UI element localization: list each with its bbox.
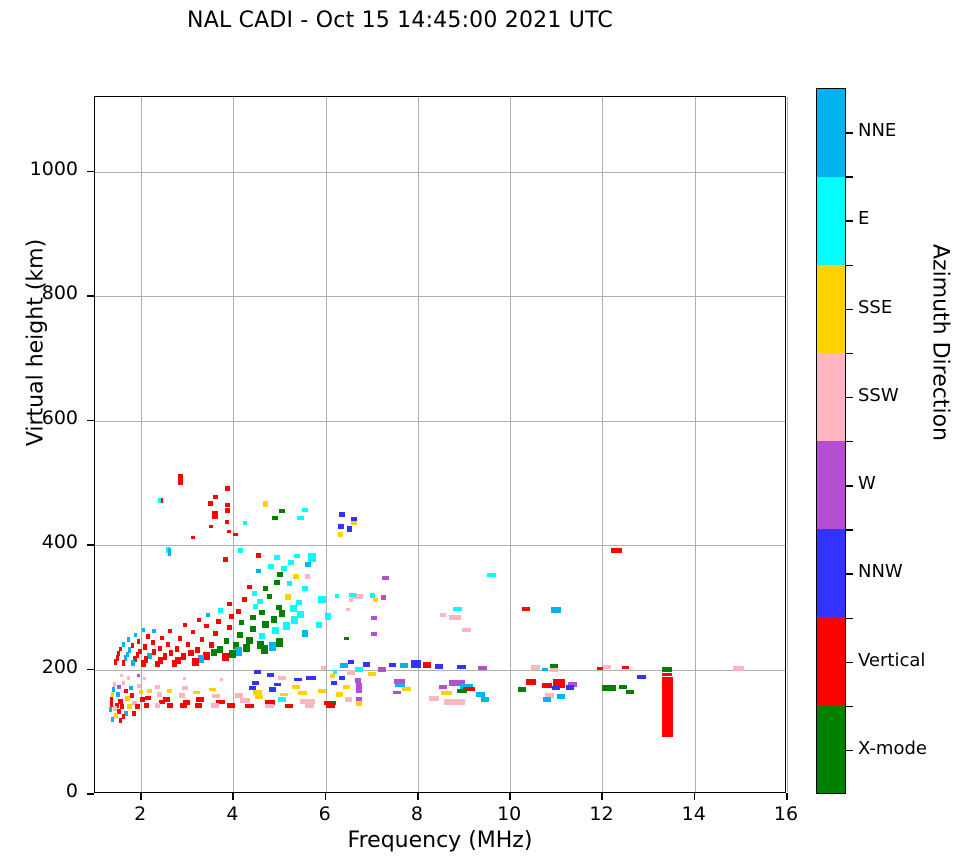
echo-marker [203, 652, 209, 659]
echo-marker [302, 630, 308, 636]
echo-marker [557, 694, 564, 699]
x-tick-label: 6 [295, 803, 355, 825]
x-tick [601, 793, 603, 800]
echo-marker [236, 609, 241, 613]
echo-marker [344, 637, 350, 641]
echo-marker [256, 569, 261, 573]
colorbar-segment-w [817, 441, 845, 529]
echo-marker [122, 642, 125, 647]
echo-marker [211, 703, 218, 707]
echo-marker [285, 594, 291, 600]
x-tick-label: 2 [110, 803, 170, 825]
colorbar-segment-ssw [817, 353, 845, 441]
echo-marker [117, 709, 121, 714]
echo-marker [152, 649, 156, 655]
echo-marker [274, 555, 280, 559]
colorbar-label-x-mode: X-mode [858, 738, 927, 759]
echo-marker [326, 704, 335, 708]
echo-marker [239, 620, 245, 625]
echo-marker [276, 605, 282, 611]
echo-marker [343, 685, 349, 689]
echo-marker [373, 598, 378, 602]
colorbar-label-nne: NNE [858, 120, 896, 141]
colorbar-boundary-tick [846, 353, 853, 354]
colorbar-label-sse: SSE [858, 297, 892, 318]
echo-marker [243, 644, 250, 652]
echo-marker [229, 650, 236, 658]
echo-marker [200, 637, 205, 642]
echo-marker [208, 501, 213, 505]
colorbar-tick [846, 309, 853, 310]
colorbar-tick [846, 220, 853, 221]
x-tick-label: 14 [664, 803, 724, 825]
echo-marker [435, 664, 443, 669]
echo-marker [142, 628, 145, 632]
echo-marker [662, 673, 671, 677]
echo-marker [293, 574, 299, 579]
echo-marker [204, 624, 209, 628]
echo-marker [274, 580, 280, 586]
echo-marker [272, 516, 278, 520]
echo-marker [294, 678, 302, 682]
echo-marker [256, 553, 261, 557]
echo-marker [206, 613, 210, 617]
echo-marker [181, 653, 187, 660]
y-tick-label: 400 [0, 531, 78, 553]
echo-marker [245, 704, 253, 708]
echo-marker [423, 662, 430, 668]
echo-marker [444, 699, 465, 705]
echo-marker [272, 627, 279, 634]
echo-marker [229, 614, 234, 618]
echo-marker [257, 599, 263, 604]
echo-marker [478, 666, 486, 670]
echo-marker [252, 591, 257, 596]
echo-marker [261, 645, 268, 654]
x-tick-label: 4 [202, 803, 262, 825]
echo-marker [347, 526, 352, 532]
echo-marker [602, 685, 616, 691]
echo-marker [348, 660, 354, 664]
echo-marker [285, 704, 293, 708]
echo-marker [339, 512, 345, 516]
echo-marker [662, 667, 671, 671]
echo-marker [227, 625, 232, 630]
echo-marker [141, 660, 145, 667]
colorbar-boundary-tick [846, 176, 853, 177]
colorbar-segment-nnw [817, 529, 845, 617]
echo-marker [355, 667, 362, 671]
echo-marker [287, 581, 293, 586]
echo-marker [135, 704, 140, 709]
echo-marker [122, 681, 126, 685]
echo-marker [637, 675, 646, 679]
colorbar-boundary-tick [846, 441, 853, 442]
echo-marker [195, 647, 200, 653]
echo-marker [351, 521, 357, 525]
echo-marker [209, 525, 213, 529]
echo-marker [345, 697, 352, 701]
echo-marker [393, 691, 400, 695]
echo-marker [143, 677, 146, 680]
echo-marker [225, 486, 230, 490]
echo-marker [111, 717, 114, 722]
echo-marker [127, 637, 130, 641]
echo-marker [195, 703, 202, 707]
echo-marker [321, 666, 327, 670]
echo-marker [129, 686, 133, 690]
echo-marker [253, 604, 258, 609]
echo-marker [371, 616, 377, 620]
echo-marker [169, 650, 174, 656]
echo-marker [381, 595, 387, 599]
echo-marker [297, 516, 303, 520]
echo-marker [240, 698, 250, 702]
colorbar [816, 88, 846, 794]
echo-marker [157, 692, 163, 696]
echo-marker [130, 693, 135, 697]
y-tick-label: 1000 [0, 158, 78, 180]
echo-marker [242, 597, 247, 602]
echo-marker [172, 660, 178, 667]
x-tick-label: 8 [387, 803, 447, 825]
echo-marker [179, 693, 185, 697]
y-tick [87, 544, 94, 546]
echo-marker [220, 678, 223, 681]
echo-marker [626, 690, 633, 694]
echo-marker [552, 686, 560, 690]
echo-marker [271, 616, 277, 623]
colorbar-segment-nne [817, 89, 845, 177]
x-tick [694, 793, 696, 800]
echo-marker [526, 679, 536, 685]
echo-marker [225, 503, 230, 507]
echo-marker [213, 495, 218, 499]
echo-marker [225, 520, 230, 524]
echo-marker [224, 638, 230, 644]
echo-marker [188, 650, 194, 656]
y-tick [87, 669, 94, 671]
echo-marker [281, 566, 287, 571]
echo-marker [254, 670, 260, 674]
echo-marker [227, 703, 235, 707]
x-tick [325, 793, 327, 800]
echo-marker [346, 608, 351, 611]
echo-marker [166, 642, 170, 647]
y-tick-label: 0 [0, 780, 78, 802]
echo-marker [476, 692, 485, 696]
echo-marker [457, 665, 466, 669]
echo-marker [274, 683, 281, 687]
echo-marker [347, 670, 355, 674]
echo-marker [147, 653, 151, 659]
echo-marker [191, 536, 195, 540]
echo-marker [216, 619, 221, 623]
echo-marker [139, 690, 144, 694]
echo-marker [134, 633, 137, 637]
echo-marker [151, 640, 155, 645]
echo-marker [378, 667, 386, 671]
echo-marker [543, 697, 550, 701]
echo-marker [116, 692, 120, 697]
colorbar-tick [846, 573, 853, 574]
echo-marker [298, 691, 307, 695]
echo-marker [662, 677, 673, 737]
echo-marker [302, 586, 308, 591]
echo-marker [440, 613, 446, 617]
echo-marker [306, 676, 316, 680]
echo-marker [338, 532, 343, 536]
echo-marker [733, 666, 743, 671]
echo-marker [114, 659, 117, 665]
echo-marker [183, 623, 187, 627]
echo-marker [316, 622, 322, 628]
echo-marker [279, 509, 285, 513]
echo-marker [160, 636, 164, 640]
echo-marker [269, 642, 276, 651]
echo-marker [132, 711, 136, 716]
echo-marker [246, 637, 252, 644]
echo-marker [276, 638, 283, 647]
echo-marker [144, 703, 149, 707]
echo-marker [619, 685, 627, 689]
echo-marker [124, 689, 128, 693]
echo-marker [122, 660, 125, 666]
echo-marker [252, 681, 259, 685]
echo-marker [336, 692, 343, 696]
gridline-vertical [787, 97, 788, 792]
echo-marker [186, 642, 191, 647]
echo-marker [243, 521, 248, 525]
echo-marker [131, 660, 135, 666]
echo-marker [356, 688, 362, 693]
echo-marker [167, 689, 173, 693]
echo-marker [542, 668, 548, 672]
echo-marker [250, 626, 256, 632]
echo-marker [340, 663, 348, 668]
echo-marker [155, 703, 161, 707]
echo-marker [235, 647, 242, 655]
echo-marker [305, 704, 314, 708]
echo-marker [283, 622, 290, 630]
echo-marker [175, 646, 180, 652]
colorbar-segment-vertical [817, 617, 845, 705]
echo-marker [305, 562, 311, 567]
echo-marker [338, 524, 344, 528]
echo-marker [137, 674, 140, 677]
echo-marker [212, 694, 219, 698]
y-tick [87, 171, 94, 173]
colorbar-tick [846, 662, 853, 663]
echo-marker [288, 560, 294, 565]
echo-marker [117, 685, 121, 689]
echo-marker [209, 688, 215, 692]
echo-marker [453, 607, 462, 611]
echo-marker [279, 610, 285, 616]
echo-marker [178, 636, 182, 641]
colorbar-label-ssw: SSW [858, 385, 899, 406]
echo-marker [167, 703, 173, 707]
echo-marker [262, 621, 268, 628]
echo-marker [211, 649, 217, 656]
echo-marker [263, 501, 269, 507]
echo-marker [227, 530, 231, 534]
x-tick [140, 793, 142, 800]
echo-marker [145, 696, 151, 700]
echo-marker [178, 474, 183, 485]
echo-marker [457, 689, 467, 693]
echo-marker [268, 564, 274, 569]
y-tick-label: 200 [0, 656, 78, 678]
colorbar-tick [846, 132, 853, 133]
x-tick [417, 793, 419, 800]
echo-marker [400, 663, 407, 668]
echo-marker [131, 643, 134, 648]
colorbar-title: Azimuth Direction [928, 203, 953, 483]
echo-marker [382, 576, 388, 580]
echo-marker [233, 533, 238, 537]
echo-marker [193, 691, 199, 695]
data-layer [95, 97, 785, 792]
echo-marker [518, 687, 526, 691]
echo-marker [109, 707, 112, 712]
echo-marker [462, 628, 471, 632]
echo-marker [318, 689, 326, 693]
colorbar-label-e: E [858, 208, 869, 229]
echo-marker [402, 687, 410, 691]
echo-marker [325, 613, 331, 620]
colorbar-segment-e [817, 177, 845, 265]
echo-marker [147, 689, 152, 693]
echo-marker [238, 548, 244, 552]
echo-marker [209, 642, 214, 648]
echo-marker [182, 686, 188, 690]
echo-marker [259, 610, 265, 615]
echo-marker [487, 573, 496, 577]
echo-marker [250, 615, 256, 620]
echo-marker [449, 615, 461, 620]
x-axis-label: Frequency (MHz) [94, 828, 786, 853]
x-tick [786, 793, 788, 800]
y-axis-label: Virtual height (km) [24, 203, 49, 483]
echo-marker [542, 683, 551, 688]
echo-marker [180, 703, 186, 707]
echo-marker [192, 658, 198, 665]
echo-marker [349, 598, 354, 602]
echo-marker [363, 662, 370, 667]
echo-marker [278, 697, 286, 701]
echo-marker [368, 672, 376, 676]
echo-marker [522, 607, 530, 611]
echo-marker [237, 632, 243, 638]
echo-marker [302, 508, 308, 512]
echo-marker [296, 600, 302, 605]
colorbar-label-vertical: Vertical [858, 650, 925, 671]
colorbar-segment-sse [817, 265, 845, 353]
echo-marker [481, 697, 489, 701]
echo-marker [267, 673, 273, 677]
y-tick [87, 295, 94, 297]
echo-marker [259, 633, 265, 640]
colorbar-tick [846, 485, 853, 486]
echo-marker [127, 676, 130, 680]
echo-marker [566, 685, 574, 689]
echo-marker [125, 696, 130, 701]
echo-marker [212, 511, 218, 518]
colorbar-boundary-tick [846, 265, 853, 266]
colorbar-label-nnw: NNW [858, 561, 903, 582]
echo-marker [120, 674, 123, 677]
echo-marker [265, 704, 273, 708]
echo-marker [114, 713, 118, 718]
echo-marker [550, 668, 558, 672]
echo-marker [146, 634, 149, 638]
echo-marker [292, 685, 300, 689]
echo-marker [335, 594, 339, 598]
plot-area [94, 96, 786, 793]
echo-marker [441, 691, 451, 695]
colorbar-label-w: W [858, 473, 876, 494]
echo-marker [158, 646, 162, 652]
echo-marker [255, 695, 263, 699]
echo-marker [196, 697, 203, 701]
echo-marker [439, 685, 447, 689]
echo-marker [294, 554, 300, 558]
echo-marker [356, 701, 362, 706]
colorbar-boundary-tick [846, 529, 853, 530]
colorbar-boundary-tick [846, 706, 853, 707]
echo-marker [119, 718, 123, 723]
echo-marker [308, 553, 315, 562]
echo-marker [389, 663, 395, 667]
page-title: NAL CADI - Oct 15 14:45:00 2021 UTC [0, 8, 800, 33]
echo-marker [155, 685, 160, 689]
echo-marker [152, 629, 155, 633]
x-tick-label: 12 [571, 803, 631, 825]
y-tick [87, 420, 94, 422]
echo-marker [163, 653, 168, 659]
echo-marker [411, 660, 421, 668]
echo-marker [551, 607, 561, 613]
echo-marker [278, 676, 285, 680]
echo-marker [429, 696, 439, 701]
echo-marker [198, 655, 204, 662]
echo-marker [217, 646, 223, 653]
echo-marker [318, 596, 326, 603]
echo-marker [168, 629, 172, 633]
echo-marker [223, 557, 228, 561]
echo-marker [197, 618, 201, 622]
echo-marker [300, 699, 315, 704]
echo-marker [158, 498, 161, 503]
echo-marker [137, 684, 141, 688]
echo-marker [305, 574, 310, 579]
colorbar-tick [846, 750, 853, 751]
echo-marker [331, 681, 337, 685]
echo-marker [277, 572, 283, 577]
echo-marker [225, 508, 230, 513]
echo-marker [168, 548, 171, 555]
echo-marker [222, 653, 229, 661]
echo-marker [213, 631, 218, 636]
echo-marker [371, 632, 377, 636]
colorbar-boundary-tick [846, 618, 853, 619]
echo-marker [267, 594, 273, 599]
echo-marker [140, 697, 145, 701]
x-tick [232, 793, 234, 800]
echo-marker [611, 548, 622, 553]
y-tick [87, 793, 94, 795]
